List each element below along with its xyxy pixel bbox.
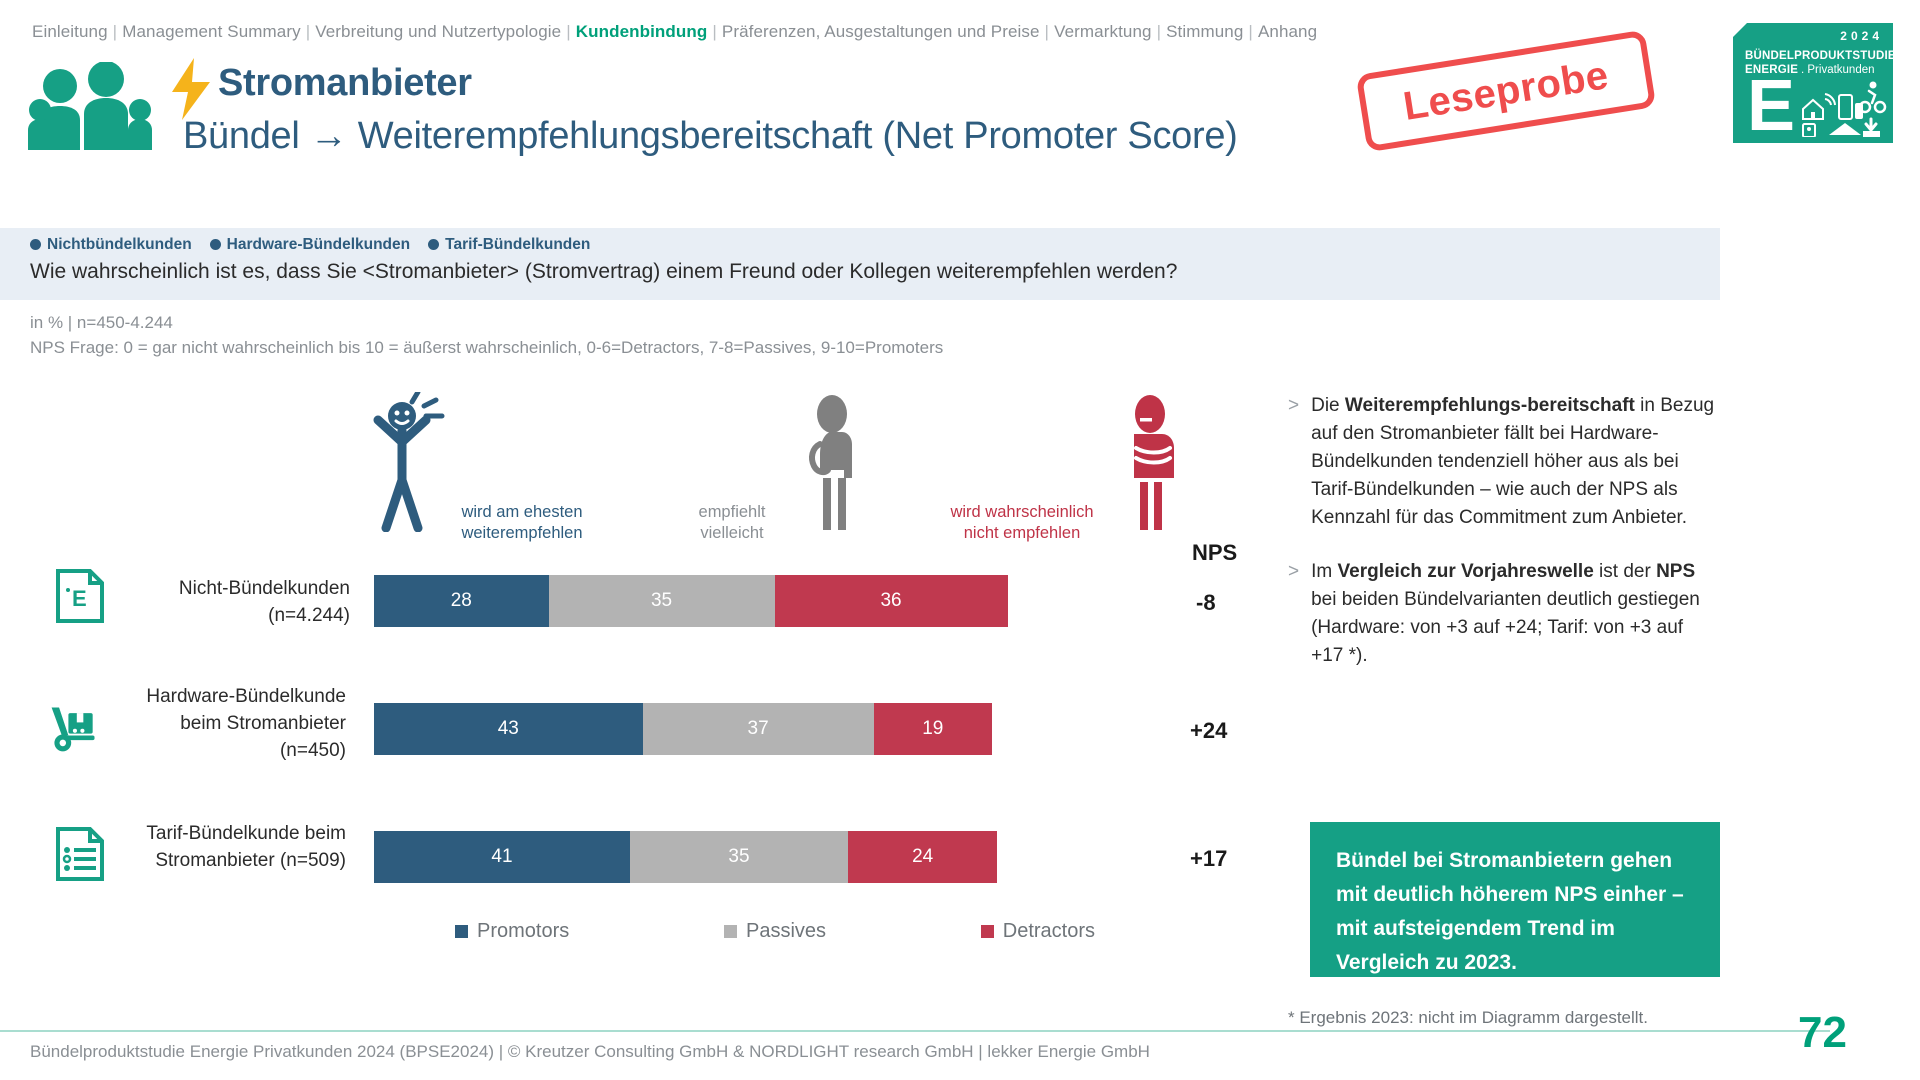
badge-line1: BÜNDELPRODUKTSTUDIE — [1745, 50, 1896, 62]
nps-chart: wird am ehesten weiterempfehlen empfiehl… — [0, 0, 1280, 1080]
nps-value-1: -8 — [1196, 590, 1216, 616]
legend-label: Passives — [746, 920, 826, 943]
leseprobe-stamp: Leseprobe — [1356, 30, 1657, 153]
hand-truck-icon — [46, 700, 102, 756]
bar-segment-promotors: 43 — [374, 703, 643, 755]
legend-swatch-icon — [724, 925, 737, 938]
row-label-line3: (n=450) — [116, 737, 346, 764]
energy-document-icon: E — [52, 568, 108, 624]
figure-label-passives: empfiehlt vielleicht — [662, 502, 802, 544]
insight-bullet-text: Im Vergleich zur Vorjahreswelle ist der … — [1311, 558, 1718, 670]
badge-line2b: . Privatkunden — [1801, 64, 1875, 76]
bar-segment-passives: 35 — [630, 831, 848, 883]
insight-bullet-2: >Im Vergleich zur Vorjahreswelle ist der… — [1288, 558, 1718, 670]
insight-bullet-text: Die Weiterempfehlungs-bereitschaft in Be… — [1311, 392, 1718, 532]
figure-label-line2: nicht empfehlen — [922, 523, 1122, 544]
bar-row-2: 43 37 19 — [374, 703, 1096, 755]
leseprobe-stamp-label: Leseprobe — [1400, 53, 1611, 130]
contract-list-icon — [52, 826, 108, 882]
legend-item-promotors[interactable]: Promotors — [455, 920, 569, 943]
nps-column-header: NPS — [1192, 540, 1237, 566]
badge-big-letter: E — [1747, 75, 1795, 137]
chevron-right-icon: > — [1288, 392, 1299, 532]
footer-divider — [0, 1030, 1830, 1032]
bar-segment-promotors: 28 — [374, 575, 549, 627]
nps-value-2: +24 — [1190, 718, 1227, 744]
bar-segment-detractors: 36 — [775, 575, 1008, 627]
figure-label-line2: weiterempfehlen — [432, 523, 612, 544]
footer-text: Bündelproduktstudie Energie Privatkunden… — [30, 1042, 1150, 1062]
legend-swatch-icon — [981, 925, 994, 938]
row-label-3: Tarif-Bündelkunde beim Stromanbieter (n=… — [116, 820, 346, 874]
bar-segment-passives: 35 — [549, 575, 775, 627]
row-label-1: Nicht-Bündelkunden (n=4.244) — [120, 575, 350, 629]
bar-segment-passives: 37 — [643, 703, 874, 755]
figure-label-line2: vielleicht — [662, 523, 802, 544]
unhappy-person-icon — [1110, 392, 1190, 532]
key-takeaway-callout: Bündel bei Stromanbietern gehen mit deut… — [1310, 822, 1720, 977]
insight-bullet-1: >Die Weiterempfehlungs-bereitschaft in B… — [1288, 392, 1718, 532]
nps-value-3: +17 — [1190, 846, 1227, 872]
svg-text:E: E — [72, 586, 87, 611]
legend-label: Promotors — [477, 920, 569, 943]
bar-row-1: 28 35 36 — [374, 575, 1164, 627]
row-label-2: Hardware-Bündelkunde beim Stromanbieter … — [116, 683, 346, 764]
row-label-line2: Stromanbieter (n=509) — [116, 847, 346, 874]
insight-bullets: >Die Weiterempfehlungs-bereitschaft in B… — [1288, 392, 1718, 696]
figure-label-line1: empfiehlt — [662, 502, 802, 523]
chart-footnote: * Ergebnis 2023: nicht im Diagramm darge… — [1288, 1008, 1648, 1028]
thinking-person-icon — [790, 392, 870, 532]
row-label-line1: Tarif-Bündelkunde beim — [116, 820, 346, 847]
chevron-right-icon: > — [1288, 558, 1299, 670]
page-number: 72 — [1798, 1008, 1847, 1058]
bar-row-3: 41 35 24 — [374, 831, 1164, 883]
bar-segment-promotors: 41 — [374, 831, 630, 883]
row-label-line2: (n=4.244) — [120, 602, 350, 629]
figure-label-detractors: wird wahrscheinlich nicht empfehlen — [922, 502, 1122, 544]
chart-legend: PromotorsPassivesDetractors — [455, 920, 1095, 943]
legend-item-detractors[interactable]: Detractors — [981, 920, 1095, 943]
figure-label-line1: wird am ehesten — [432, 502, 612, 523]
badge-pictograms-icon — [1795, 79, 1887, 137]
figure-label-line1: wird wahrscheinlich — [922, 502, 1122, 523]
figure-label-promotors: wird am ehesten weiterempfehlen — [432, 502, 612, 544]
bar-segment-detractors: 24 — [848, 831, 997, 883]
legend-label: Detractors — [1003, 920, 1095, 943]
row-label-line1: Hardware-Bündelkunde — [116, 683, 346, 710]
badge-year: 2024 — [1840, 29, 1883, 43]
legend-swatch-icon — [455, 925, 468, 938]
row-label-line1: Nicht-Bündelkunden — [120, 575, 350, 602]
legend-item-passives[interactable]: Passives — [724, 920, 826, 943]
row-label-line2: beim Stromanbieter — [116, 710, 346, 737]
study-badge: 2024 BÜNDELPRODUKTSTUDIE ENERGIE . Priva… — [1733, 23, 1893, 143]
bar-segment-detractors: 19 — [874, 703, 992, 755]
